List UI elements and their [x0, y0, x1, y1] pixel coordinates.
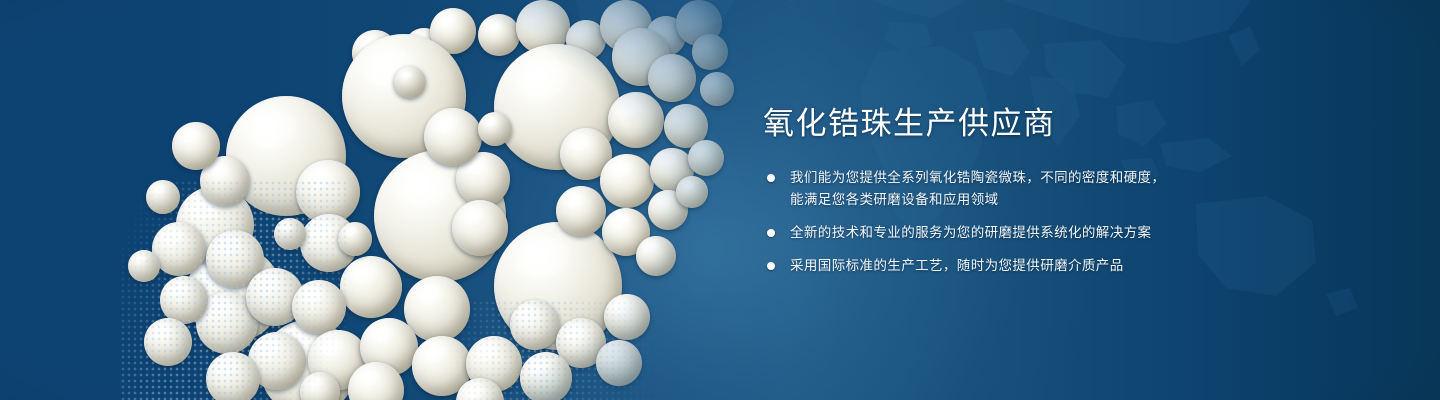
banner-copy: 氧化锆珠生产供应商 我们能为您提供全系列氧化锆陶瓷微珠，不同的密度和硬度， 能满… [763, 104, 1233, 277]
feature-list: 我们能为您提供全系列氧化锆陶瓷微珠，不同的密度和硬度， 能满足您各类研磨设备和应… [763, 167, 1233, 277]
list-item-line: 能满足您各类研磨设备和应用领域 [790, 189, 1233, 211]
list-item-line: 我们能为您提供全系列氧化锆陶瓷微珠，不同的密度和硬度， [790, 167, 1233, 189]
list-item: 全新的技术和专业的服务为您的研磨提供系统化的解决方案 [763, 222, 1233, 244]
list-item-line: 采用国际标准的生产工艺，随时为您提供研磨介质产品 [790, 255, 1233, 277]
list-item: 采用国际标准的生产工艺，随时为您提供研磨介质产品 [763, 255, 1233, 277]
hero-banner: 氧化锆珠生产供应商 我们能为您提供全系列氧化锆陶瓷微珠，不同的密度和硬度， 能满… [0, 0, 1440, 400]
list-item: 我们能为您提供全系列氧化锆陶瓷微珠，不同的密度和硬度， 能满足您各类研磨设备和应… [763, 167, 1233, 211]
bullet-dot-icon [767, 174, 775, 182]
list-item-line: 全新的技术和专业的服务为您的研磨提供系统化的解决方案 [790, 222, 1233, 244]
bullet-dot-icon [767, 262, 775, 270]
bullet-dot-icon [767, 229, 775, 237]
page-title: 氧化锆珠生产供应商 [763, 104, 1233, 144]
